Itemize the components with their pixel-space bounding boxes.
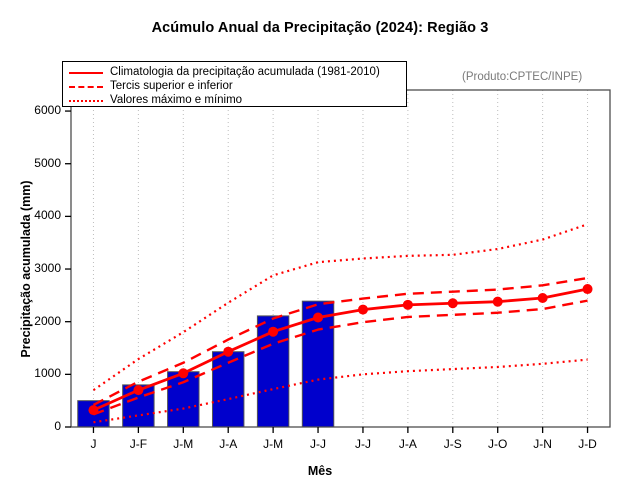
y-tick-label: 3000 [15, 261, 61, 275]
data-point-marker [313, 312, 323, 322]
y-tick-label: 1000 [15, 366, 61, 380]
data-point-marker [178, 368, 188, 378]
data-point-marker [223, 347, 233, 357]
y-tick-label: 2000 [15, 314, 61, 328]
legend-line-dashed-icon [69, 80, 103, 92]
legend-line-dotted-icon [69, 94, 103, 106]
data-point-marker [268, 327, 278, 337]
legend-item-climatologia: Climatologia da precipitação acumulada (… [69, 65, 380, 79]
y-tick-label: 6000 [15, 103, 61, 117]
data-point-marker [538, 293, 548, 303]
x-tick-label: J-D [560, 437, 616, 451]
data-point-marker [88, 405, 98, 415]
bar-J-M [168, 372, 199, 427]
data-point-marker [583, 284, 593, 294]
data-point-marker [448, 298, 458, 308]
series-line [93, 224, 587, 390]
y-tick-label: 5000 [15, 156, 61, 170]
data-point-marker [403, 300, 413, 310]
data-point-marker [133, 385, 143, 395]
y-tick-label: 0 [15, 419, 61, 433]
data-point-marker [358, 305, 368, 315]
data-point-marker [493, 297, 503, 307]
legend-item-valores: Valores máximo e mínimo [69, 93, 242, 107]
legend-line-solid-icon [69, 66, 103, 78]
legend-label: Tercis superior e inferior [110, 80, 233, 92]
y-tick-label: 4000 [15, 208, 61, 222]
chart-legend: Climatologia da precipitação acumulada (… [62, 61, 407, 107]
legend-label: Climatologia da precipitação acumulada (… [110, 66, 380, 78]
chart-canvas: Acúmulo Anual da Precipitação (2024): Re… [0, 0, 640, 500]
legend-label: Valores máximo e mínimo [110, 94, 242, 106]
legend-item-tercis: Tercis superior e inferior [69, 79, 233, 93]
produto-annotation: (Produto:CPTEC/INPE) [462, 71, 582, 83]
